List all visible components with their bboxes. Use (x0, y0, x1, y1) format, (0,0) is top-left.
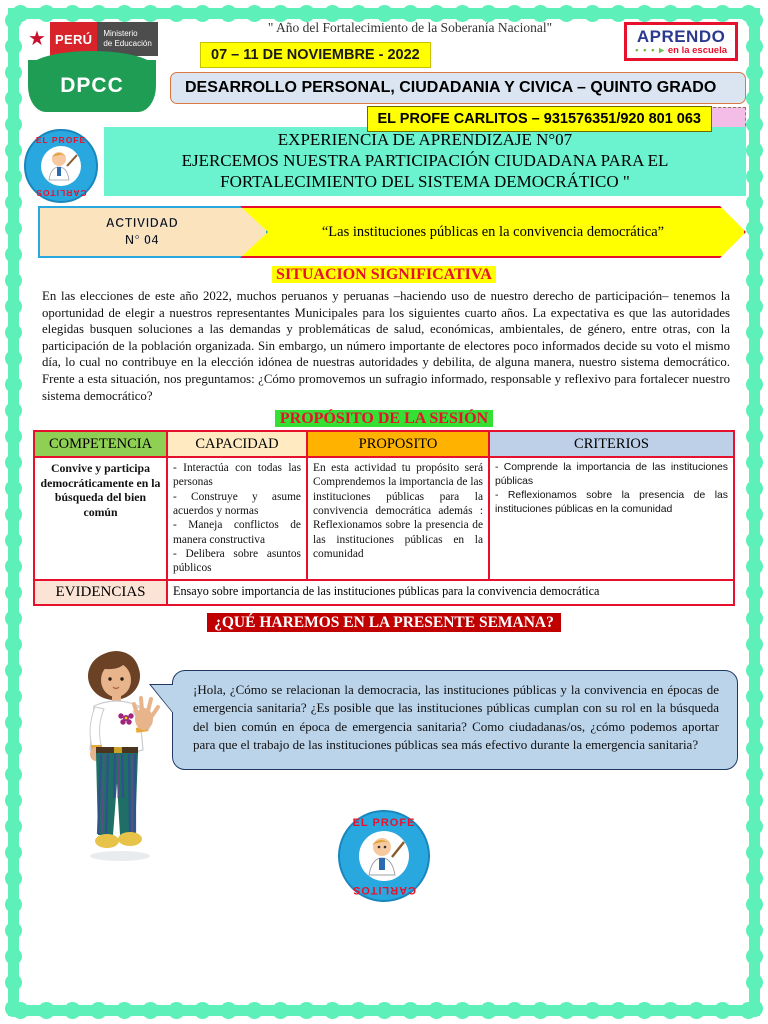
situation-title: SITUACION SIGNIFICATIVA (272, 266, 496, 283)
aprendo-title: APRENDO (635, 28, 727, 45)
experience-line-2: EJERCEMOS NUESTRA PARTICIPACIÓN CIUDADAN… (110, 150, 740, 171)
col-header-proposito: PROPOSITO (307, 431, 489, 457)
evidencias-row: EVIDENCIAS Ensayo sobre importancia de l… (34, 580, 734, 605)
teacher-with-pointer-icon (359, 831, 409, 881)
logo-large-top-text: EL PROFE (340, 817, 428, 829)
aprendo-subtitle-text: en la escuela (668, 45, 727, 56)
teacher-with-pointer-icon (41, 146, 81, 186)
speech-bubble: ¡Hola, ¿Cómo se relacionan la democracia… (172, 670, 738, 770)
speech-bubble-text: ¡Hola, ¿Cómo se relacionan la democracia… (193, 682, 719, 753)
situation-title-wrap: SITUACION SIGNIFICATIVA (20, 266, 748, 284)
col-header-criterios: CRITERIOS (489, 431, 734, 457)
week-question-wrap: ¿QUÉ HAREMOS EN LA PRESENTE SEMANA? (20, 614, 748, 632)
logo-top-text: EL PROFE (26, 135, 96, 145)
profe-carlitos-logo-large: EL PROFE CARLITOS (338, 810, 430, 902)
teacher-contact-badge: EL PROFE CARLITOS – 931576351/920 801 06… (367, 106, 712, 132)
minedu-line2: de Educación (103, 39, 151, 49)
activity-title: “Las instituciones públicas en la conviv… (292, 224, 664, 241)
profe-carlitos-logo-small: EL PROFE CARLITOS (24, 129, 98, 203)
activity-number: N° 04 (125, 232, 181, 249)
cell-competencia: Convive y participa democráticamente en … (34, 457, 167, 579)
evidencias-label: EVIDENCIAS (34, 580, 167, 605)
aprendo-en-la-escuela-logo: APRENDO • • • ▸en la escuela (624, 22, 738, 61)
frame-top-bar (8, 8, 760, 19)
competency-matrix-table: COMPETENCIA CAPACIDAD PROPOSITO CRITERIO… (33, 430, 735, 605)
experience-line-3: FORTALECIMIENTO DEL SISTEMA DEMOCRÁTICO … (110, 171, 740, 192)
frame-right-bar (749, 8, 760, 1016)
evidencias-text: Ensayo sobre importancia de las instituc… (167, 580, 734, 605)
table-header-row: COMPETENCIA CAPACIDAD PROPOSITO CRITERIO… (34, 431, 734, 457)
frame-bottom-bar (8, 1005, 760, 1016)
col-header-capacidad: CAPACIDAD (167, 431, 307, 457)
cell-proposito: En esta actividad tu propósito será Comp… (307, 457, 489, 579)
activity-number-chevron: ACTIVIDAD N° 04 (38, 206, 268, 258)
logo-large-bottom-text: CARLITOS (340, 884, 428, 896)
cell-capacidad: - Interactúa con todas las personas - Co… (167, 457, 307, 579)
logo-bottom-text: CARLITOS (26, 188, 96, 198)
table-row: Convive y participa democráticamente en … (34, 457, 734, 579)
activity-label: ACTIVIDAD (106, 215, 201, 232)
header-zone: ★ PERÚ Ministerio de Educación DPCC " Añ… (20, 20, 748, 125)
proposito-title-wrap: PROPÓSITO DE LA SESIÓN (20, 410, 748, 428)
waving-girl-illustration (62, 648, 172, 863)
year-slogan: " Año del Fortalecimiento de la Soberaní… (200, 20, 620, 36)
week-question: ¿QUÉ HAREMOS EN LA PRESENTE SEMANA? (207, 613, 561, 632)
activity-row: “Las instituciones públicas en la conviv… (20, 206, 748, 258)
bottom-section: ¡Hola, ¿Cómo se relacionan la democracia… (20, 648, 748, 898)
aprendo-subtitle: • • • ▸en la escuela (635, 45, 727, 56)
experience-line-1: EXPERIENCIA DE APRENDIZAJE N°07 (110, 129, 740, 150)
dpcc-flag-banner: DPCC (28, 60, 156, 112)
proposito-title: PROPÓSITO DE LA SESIÓN (275, 410, 493, 427)
minedu-line1: Ministerio (103, 29, 151, 39)
activity-title-chevron: “Las instituciones públicas en la conviv… (210, 206, 746, 258)
peru-coat-of-arms-icon: ★ (24, 22, 50, 56)
experience-row: EL PROFE CARLITOS EXPERIENCIA DE APRENDI… (20, 127, 748, 202)
frame-left-bar (8, 8, 19, 1016)
experience-banner: EXPERIENCIA DE APRENDIZAJE N°07 EJERCEMO… (104, 127, 746, 196)
cell-criterios: - Comprende la importancia de las instit… (489, 457, 734, 579)
course-grade-banner: DESARROLLO PERSONAL, CIUDADANIA Y CIVICA… (170, 72, 746, 104)
col-header-competencia: COMPETENCIA (34, 431, 167, 457)
date-range-badge: 07 – 11 DE NOVIEMBRE - 2022 (200, 42, 431, 68)
aprendo-dots-icon: • • • ▸ (635, 45, 665, 56)
dpcc-label: DPCC (60, 74, 124, 98)
worksheet-page: ★ PERÚ Ministerio de Educación DPCC " Añ… (20, 20, 748, 1004)
situation-body: En las elecciones de este año 2022, much… (42, 288, 730, 404)
